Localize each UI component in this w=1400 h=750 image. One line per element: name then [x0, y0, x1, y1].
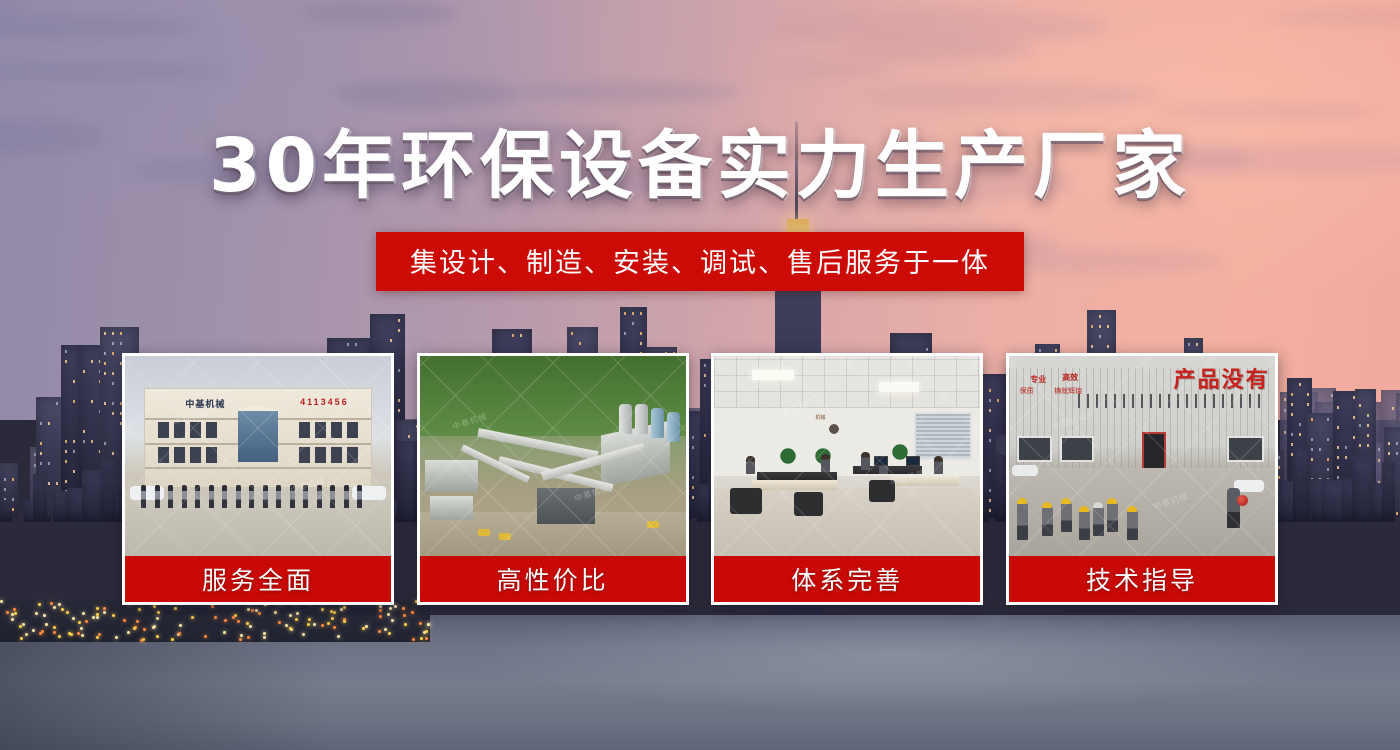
- banner-stage: 30年环保设备实力生产厂家 集设计、制造、安装、调试、售后服务于一体 中基机械 …: [0, 0, 1400, 750]
- feature-card-list: 中基机械 4113456: [122, 353, 1278, 605]
- watermark-mesh: [125, 356, 391, 556]
- watermark-mesh: [714, 356, 980, 556]
- feature-card-service[interactable]: 中基机械 4113456: [122, 353, 394, 605]
- feature-card-training[interactable]: 产品没有 专业 高效 保质 铸就辉煌: [1006, 353, 1278, 605]
- feature-card-value[interactable]: 中基机械 中基机械 高性价比: [417, 353, 689, 605]
- card-label-service: 服务全面: [125, 556, 391, 602]
- watermark-mesh: [420, 356, 686, 556]
- card-label-training: 技术指导: [1009, 556, 1275, 602]
- card-label-system: 体系完善: [714, 556, 980, 602]
- card-photo-office: 机械: [714, 356, 980, 556]
- card-photo-headquarters: 中基机械 4113456: [125, 356, 391, 556]
- watermark-mesh: [1009, 356, 1275, 556]
- feature-card-system[interactable]: 机械: [711, 353, 983, 605]
- riverbank-shore: [0, 600, 430, 642]
- card-photo-plant-aerial: 中基机械 中基机械: [420, 356, 686, 556]
- page-title: 30年环保设备实力生产厂家: [0, 128, 1400, 206]
- card-label-value: 高性价比: [420, 556, 686, 602]
- card-photo-workers: 产品没有 专业 高效 保质 铸就辉煌: [1009, 356, 1275, 556]
- subtitle-banner: 集设计、制造、安装、调试、售后服务于一体: [376, 232, 1024, 291]
